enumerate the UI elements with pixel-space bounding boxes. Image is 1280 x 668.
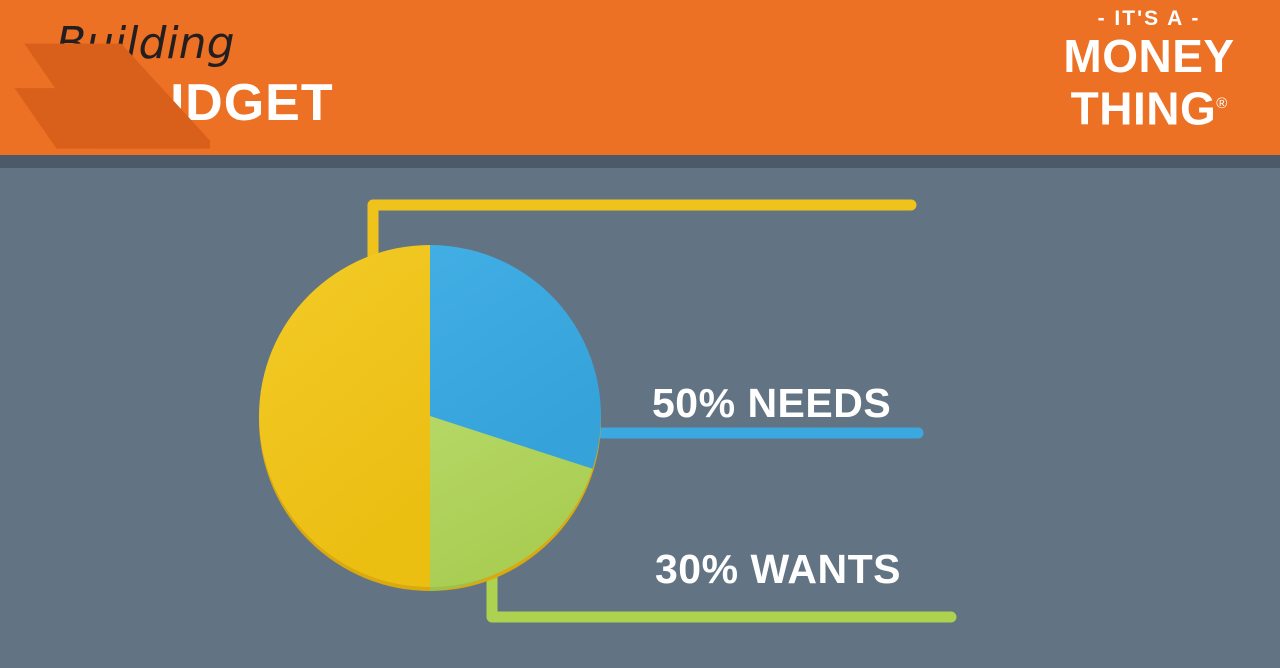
registered-trademark-icon: ® xyxy=(1216,95,1227,112)
title-script-line: Building xyxy=(56,18,334,70)
label-wants: 30% WANTS xyxy=(655,546,901,593)
page-title: Building A BUDGET xyxy=(56,18,334,132)
header-bar: Building A BUDGET - IT'S A - MONEY THING… xyxy=(0,0,1280,155)
title-main-line: A BUDGET xyxy=(56,74,334,132)
pie-slice-needs[interactable] xyxy=(259,245,430,587)
chart-area: 50% NEEDS 30% WANTS 20% SAVINGS xyxy=(0,168,1280,668)
label-needs: 50% NEEDS xyxy=(652,380,891,427)
logo-tagline: - IT'S A - xyxy=(1044,6,1254,32)
infographic-canvas: Building A BUDGET - IT'S A - MONEY THING… xyxy=(0,0,1280,668)
brand-logo[interactable]: - IT'S A - MONEY THING® xyxy=(1044,6,1254,146)
logo-word-money: MONEY xyxy=(1044,32,1254,80)
header-divider xyxy=(0,155,1280,168)
pie-chart xyxy=(0,168,1280,668)
logo-word-thing: THING® xyxy=(1044,80,1254,132)
logo-word-thing-text: THING xyxy=(1071,82,1217,134)
logo-text-group: - IT'S A - MONEY THING® xyxy=(1044,6,1254,132)
